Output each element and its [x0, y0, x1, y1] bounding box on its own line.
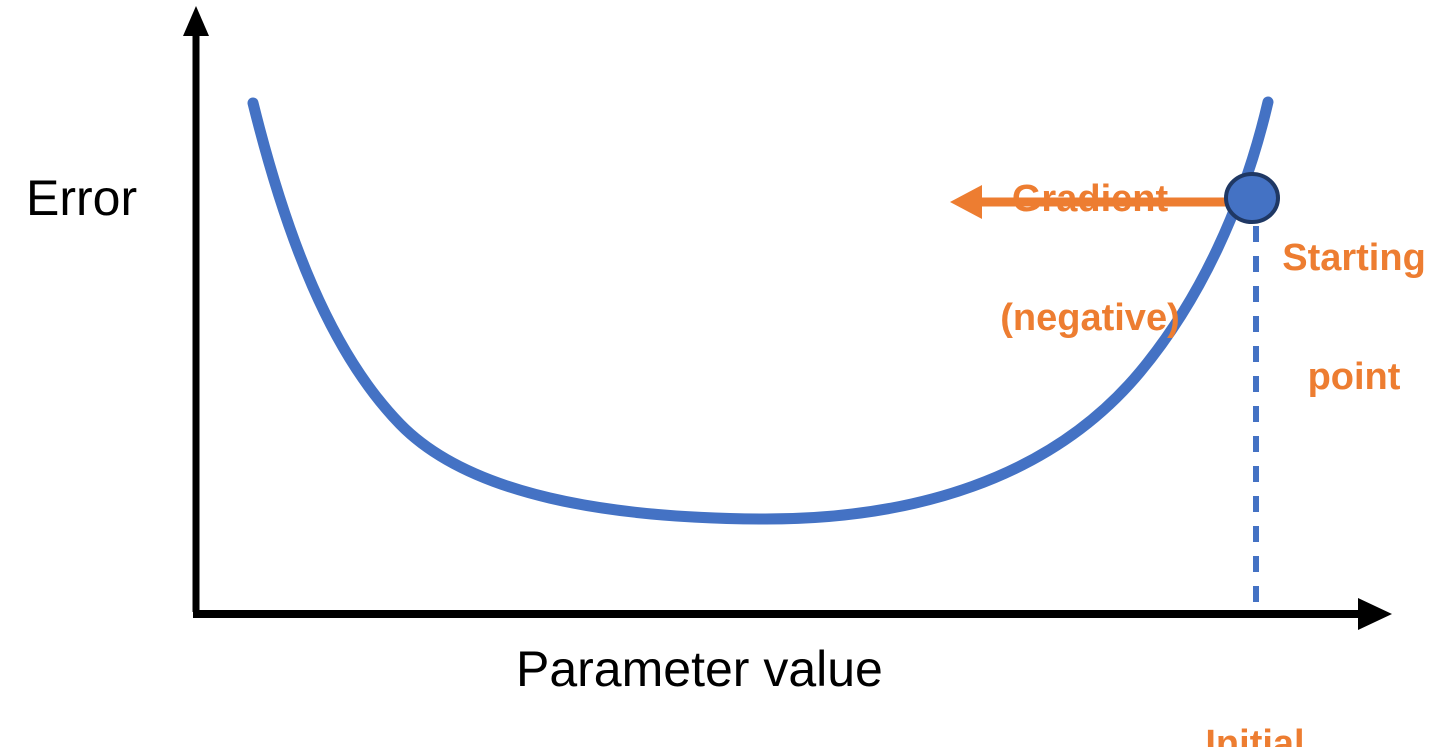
- gradient-arrowhead: [950, 185, 982, 219]
- gradient-annotation-line1: Gradient: [985, 180, 1195, 220]
- y-axis: [183, 6, 209, 612]
- starting-point-line2: point: [1279, 358, 1429, 398]
- starting-point-annotation: Starting point: [1279, 159, 1429, 478]
- gradient-annotation: Gradient (negative): [985, 100, 1195, 419]
- y-axis-arrowhead: [183, 6, 209, 36]
- x-axis-arrowhead: [1358, 598, 1392, 630]
- initial-value-line1: Initial: [1180, 725, 1330, 747]
- starting-point-marker[interactable]: [1226, 174, 1278, 222]
- gradient-annotation-line2: (negative): [985, 299, 1195, 339]
- starting-point-line1: Starting: [1279, 239, 1429, 279]
- x-axis: [193, 598, 1392, 630]
- x-axis-label: Parameter value: [516, 643, 883, 696]
- gradient-descent-figure: [0, 0, 1435, 747]
- diagram-canvas: Error Parameter value Gradient (negative…: [0, 0, 1435, 747]
- y-axis-label: Error: [26, 172, 137, 225]
- initial-value-annotation: Initial Value: [1180, 645, 1330, 747]
